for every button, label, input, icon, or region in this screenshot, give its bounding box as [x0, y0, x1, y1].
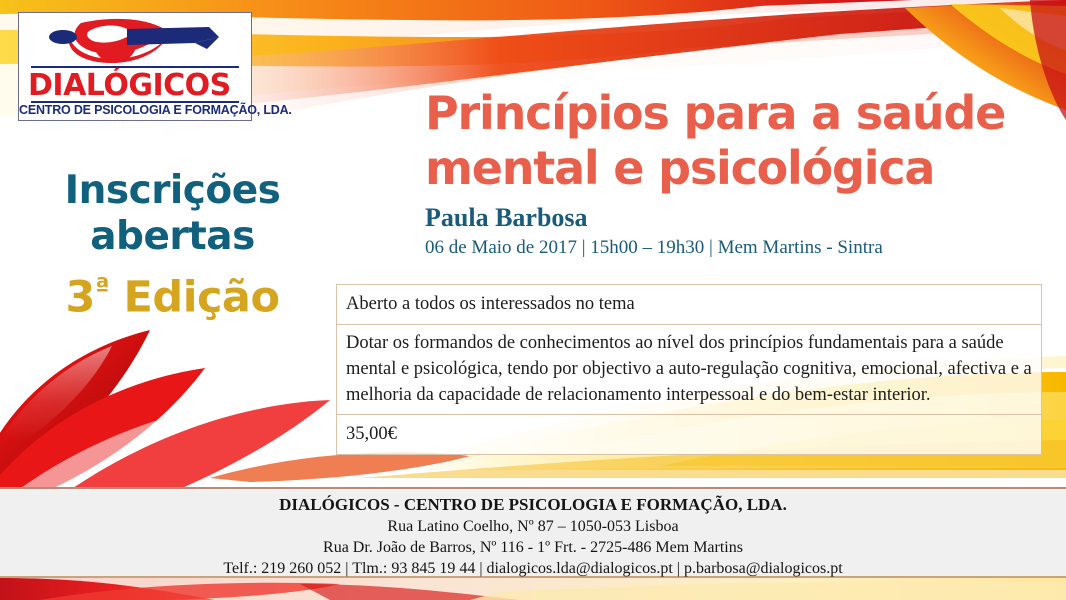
headline-line-2: mental e psicológica	[425, 141, 1045, 196]
registration-line-1: Inscrições	[30, 168, 315, 214]
edition-number: 3	[65, 272, 94, 322]
footer-address-1: Rua Latino Coelho, Nº 87 – 1050-053 Lisb…	[0, 516, 1066, 537]
info-row-price: 35,00€	[337, 415, 1041, 455]
course-info-table: Aberto a todos os interessados no tema D…	[336, 284, 1042, 455]
registration-line-2: abertas	[30, 214, 315, 260]
poster-canvas: DIALÓGICOS CENTRO DE PSICOLOGIA E FORMAÇ…	[0, 0, 1066, 600]
logo-wordmark: DIALÓGICOS	[28, 68, 242, 101]
speaker-name: Paula Barbosa	[425, 202, 1045, 233]
footer-organization: DIALÓGICOS - CENTRO DE PSICOLOGIA E FORM…	[0, 493, 1066, 516]
company-logo: DIALÓGICOS CENTRO DE PSICOLOGIA E FORMAÇ…	[18, 12, 252, 121]
headline-line-1: Princípios para a saúde	[425, 86, 1045, 141]
headline-block: Princípios para a saúde mental e psicoló…	[425, 86, 1045, 260]
edition-word: Edição	[109, 272, 279, 322]
registration-block: Inscrições abertas 3ª Edição	[30, 168, 315, 322]
logo-wordmark-text: DIALÓGICOS	[28, 68, 231, 101]
logo-tagline: CENTRO DE PSICOLOGIA E FORMAÇÃO, LDA.	[19, 103, 251, 117]
footer-contacts: Telf.: 219 260 052 | Tlm.: 93 845 19 44 …	[0, 558, 1066, 579]
edition-ordinal: ª	[95, 273, 109, 303]
footer-contact-band: DIALÓGICOS - CENTRO DE PSICOLOGIA E FORM…	[0, 487, 1066, 578]
event-meta: 06 de Maio de 2017 | 15h00 – 19h30 | Mem…	[425, 235, 1045, 260]
info-row-description: Dotar os formandos de conhecimentos ao n…	[337, 325, 1041, 415]
dialogicos-crescent-arrow-icon	[19, 17, 251, 65]
info-row-audience: Aberto a todos os interessados no tema	[337, 285, 1041, 325]
footer-address-2: Rua Dr. João de Barros, Nº 116 - 1º Frt.…	[0, 537, 1066, 558]
edition-label: 3ª Edição	[30, 263, 315, 322]
